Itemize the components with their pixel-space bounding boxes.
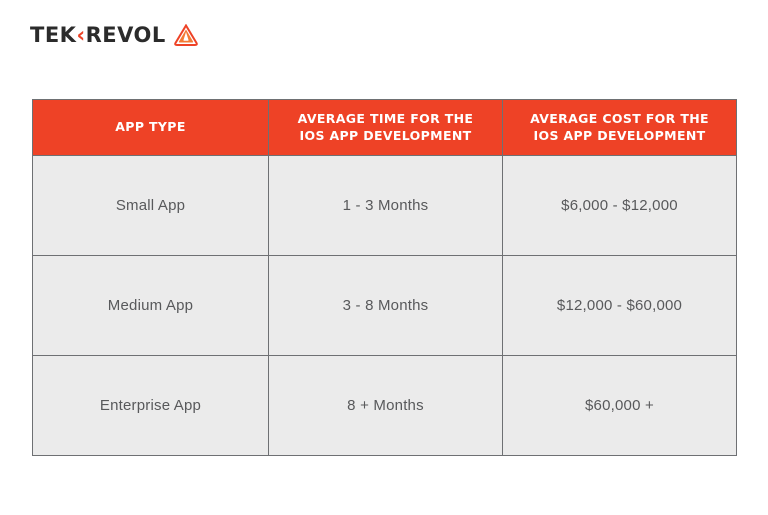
cell-average-cost: $60,000 +: [503, 356, 737, 456]
cell-app-type: Enterprise App: [33, 356, 269, 456]
cell-app-type: Medium App: [33, 256, 269, 356]
column-header-app-type-line1: APP TYPE: [115, 119, 185, 134]
brand-name-accent: ‹: [76, 25, 85, 46]
brand-name-part2: REVOL: [86, 25, 166, 46]
brand-name-part1: TEK: [30, 25, 76, 46]
table-header: APP TYPE AVERAGE TIME FOR THE IOS APP DE…: [33, 100, 737, 156]
ios-app-development-cost-table: APP TYPE AVERAGE TIME FOR THE IOS APP DE…: [32, 99, 737, 456]
table-row: Medium App 3 - 8 Months $12,000 - $60,00…: [33, 256, 737, 356]
column-header-average-cost-line1: AVERAGE COST FOR THE: [530, 111, 709, 126]
column-header-average-time-line1: AVERAGE TIME FOR THE: [298, 111, 474, 126]
table-row: Enterprise App 8 + Months $60,000 +: [33, 356, 737, 456]
cell-average-time: 3 - 8 Months: [269, 256, 503, 356]
cell-average-time: 1 - 3 Months: [269, 156, 503, 256]
cell-app-type: Small App: [33, 156, 269, 256]
cell-average-cost: $12,000 - $60,000: [503, 256, 737, 356]
column-header-average-cost: AVERAGE COST FOR THE IOS APP DEVELOPMENT: [503, 100, 737, 156]
brand-logo[interactable]: TEK‹REVOL: [30, 20, 198, 50]
column-header-average-cost-line2: IOS APP DEVELOPMENT: [533, 128, 705, 143]
table-header-row: APP TYPE AVERAGE TIME FOR THE IOS APP DE…: [33, 100, 737, 156]
cell-average-time: 8 + Months: [269, 356, 503, 456]
triangle-mark-icon: [174, 24, 198, 46]
column-header-average-time: AVERAGE TIME FOR THE IOS APP DEVELOPMENT: [269, 100, 503, 156]
column-header-app-type: APP TYPE: [33, 100, 269, 156]
cell-average-cost: $6,000 - $12,000: [503, 156, 737, 256]
brand-wordmark: TEK‹REVOL: [30, 25, 166, 46]
table-body: Small App 1 - 3 Months $6,000 - $12,000 …: [33, 156, 737, 456]
table-row: Small App 1 - 3 Months $6,000 - $12,000: [33, 156, 737, 256]
column-header-average-time-line2: IOS APP DEVELOPMENT: [299, 128, 471, 143]
